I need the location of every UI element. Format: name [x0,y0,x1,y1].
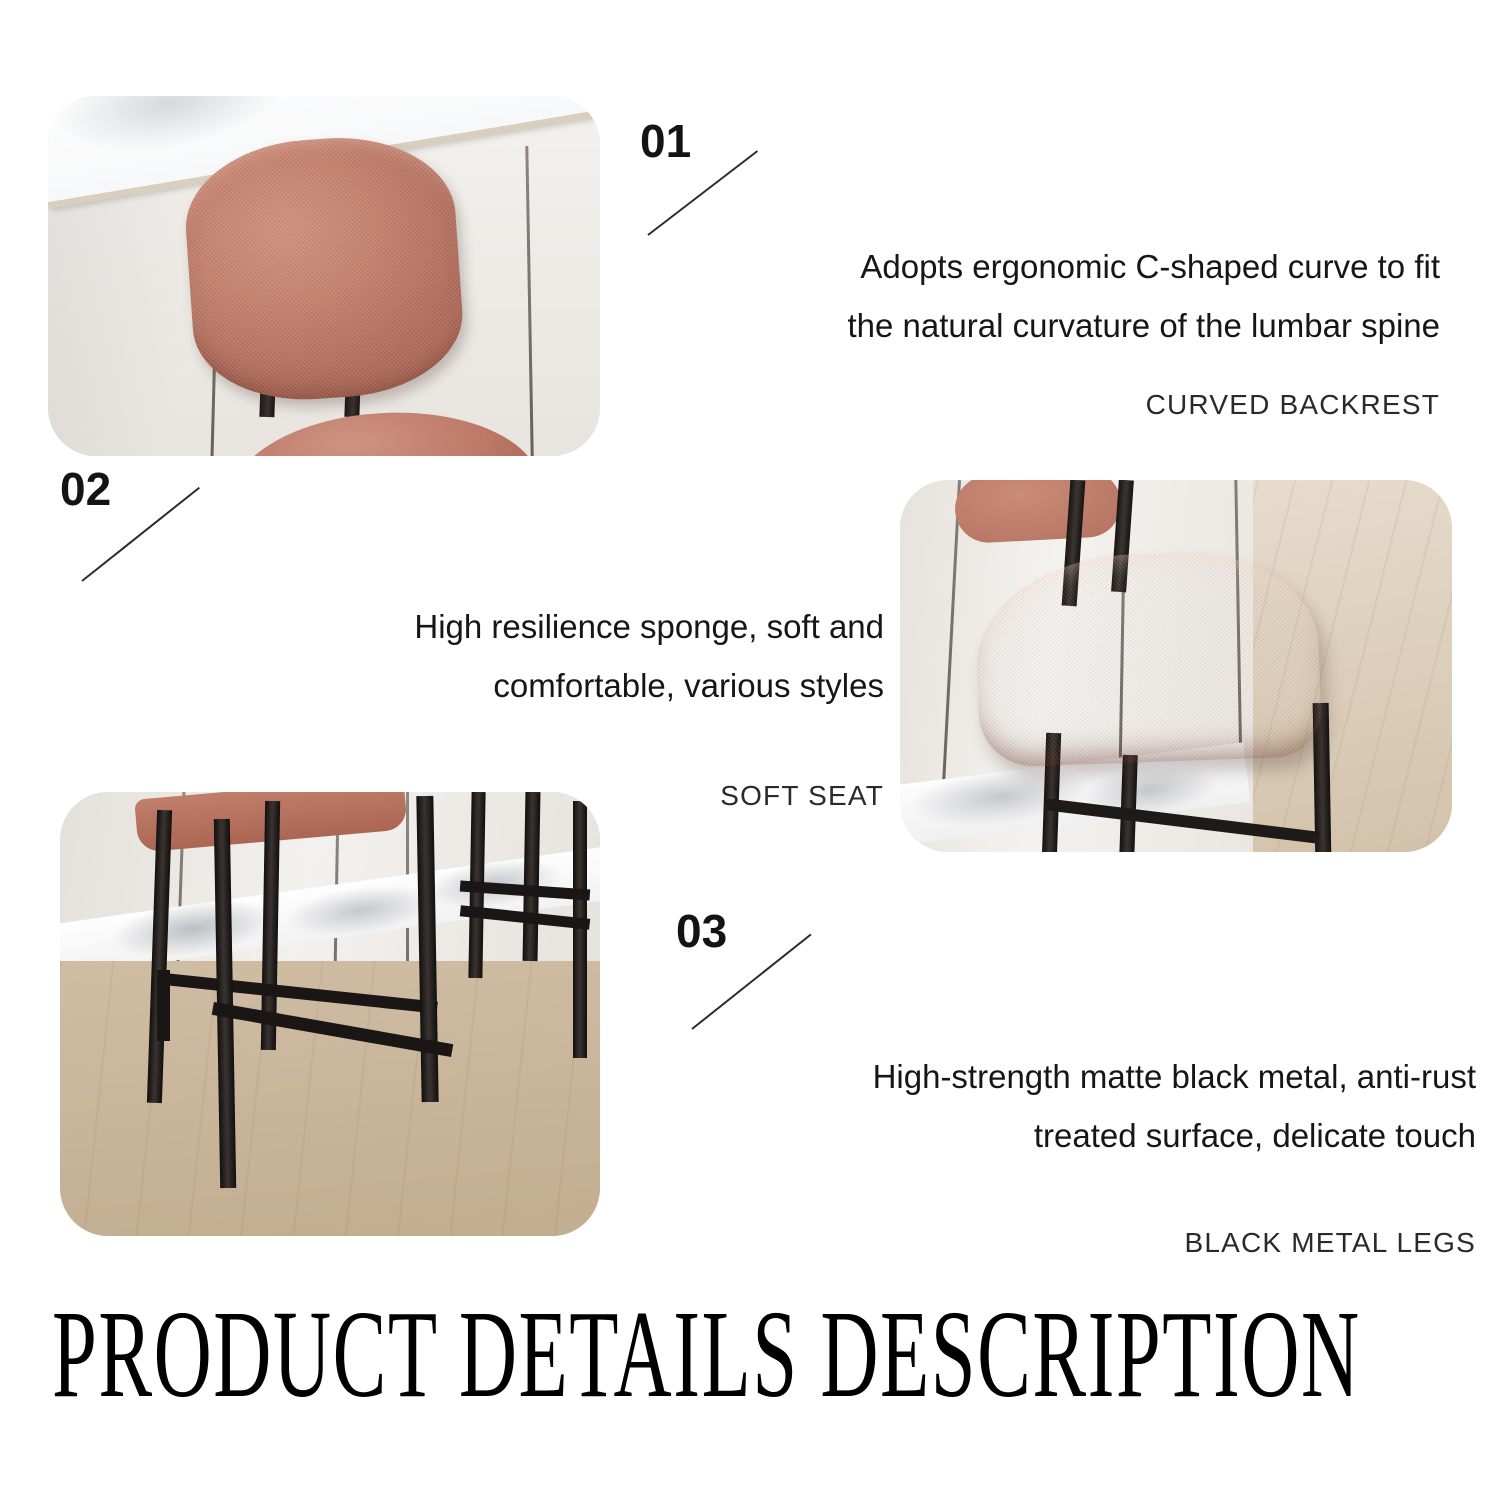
curved-backrest-photo[interactable] [48,96,600,456]
black-metal-legs-photo[interactable] [60,792,600,1236]
feature-number-02: 02 [60,466,111,512]
feature-kicker-03: BLACK METAL LEGS [1184,1227,1476,1259]
soft-seat-photo[interactable] [900,480,1452,852]
feature-description-01-line-2: the natural curvature of the lumbar spin… [847,297,1440,356]
fabric-texture [180,130,468,407]
feature-description-03: High-strength matte black metal, anti-ru… [873,1048,1476,1165]
feature-description-02-line-2: comfortable, various styles [414,657,884,716]
feature-description-02-line-1: High resilience sponge, soft and [414,598,884,657]
backrest-cushion [954,480,1123,544]
metal-leg [1119,755,1138,852]
curved-backrest-cushion [180,130,468,407]
feature-description-02: High resilience sponge, soft and comfort… [414,598,884,715]
feature-number-01: 01 [640,118,691,164]
feature-kicker-01: CURVED BACKREST [1146,389,1440,421]
metal-footrest-rail [157,970,170,1041]
feature-description-01: Adopts ergonomic C-shaped curve to fit t… [847,238,1440,355]
product-details-infographic: 01 Adopts ergonomic C-shaped curve to fi… [0,0,1500,1500]
feature-kicker-02: SOFT SEAT [720,780,884,812]
metal-leg [573,801,587,1059]
page-title: PRODUCT DETAILS DESCRIPTION [52,1292,1361,1417]
feature-description-03-line-1: High-strength matte black metal, anti-ru… [873,1048,1476,1107]
feature-number-03: 03 [676,908,727,954]
feature-description-01-line-1: Adopts ergonomic C-shaped curve to fit [847,238,1440,297]
feature-description-03-line-2: treated surface, delicate touch [873,1107,1476,1166]
